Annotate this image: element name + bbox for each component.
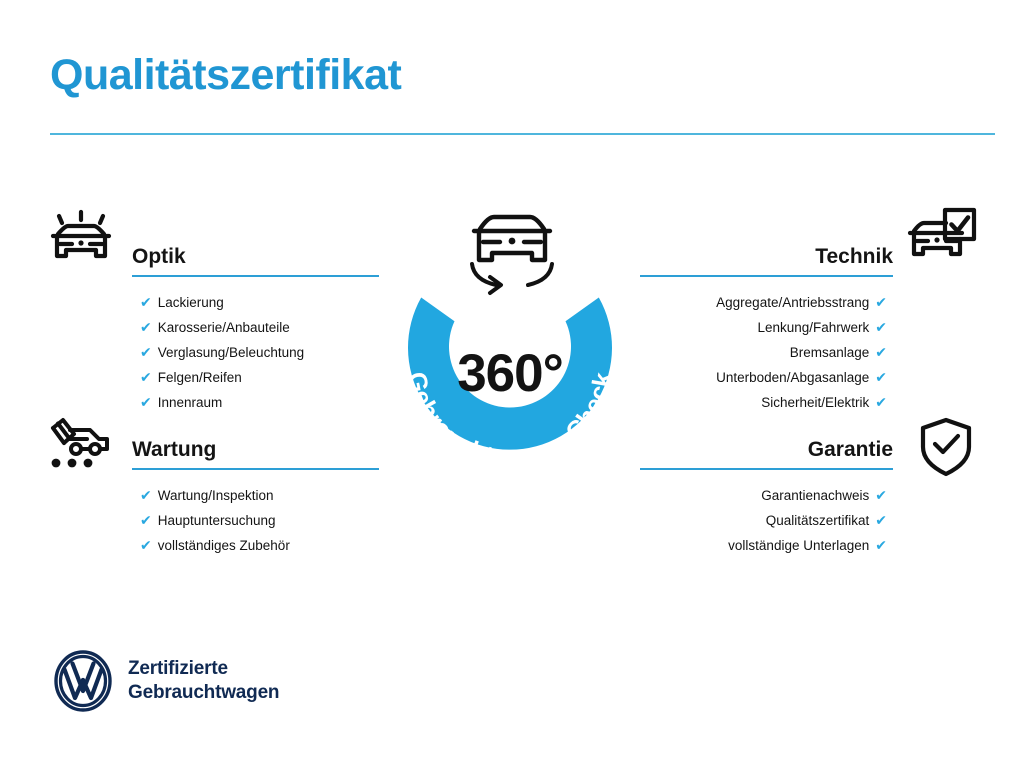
check-icon: ✔ (140, 290, 152, 314)
car-rotation-360-icon (452, 202, 572, 298)
header-divider (50, 133, 995, 135)
check-icon: ✔ (875, 390, 887, 414)
section-title: Wartung (132, 436, 379, 464)
check-icon: ✔ (140, 315, 152, 339)
car-shine-icon (46, 206, 116, 273)
section-divider (132, 275, 379, 277)
list-item: Sicherheit/Elektrik ✔ (640, 390, 893, 415)
section-header: Optik (132, 243, 379, 277)
list-item-label: Hauptuntersuchung (158, 509, 276, 533)
list-item-label: Garantienachweis (761, 484, 869, 508)
list-item: Bremsanlage ✔ (640, 340, 893, 365)
list-item-label: Verglasung/Beleuchtung (158, 341, 304, 365)
check-icon: ✔ (140, 390, 152, 414)
section-divider (640, 275, 893, 277)
vw-wordmark-line2: Gebrauchtwagen (128, 681, 279, 705)
list-item: Lenkung/Fahrwerk ✔ (640, 315, 893, 340)
check-icon: ✔ (875, 315, 887, 339)
section-title: Optik (132, 243, 379, 271)
list-item-label: Karosserie/Anbauteile (158, 316, 290, 340)
check-icon: ✔ (140, 533, 152, 557)
check-icon: ✔ (140, 365, 152, 389)
vw-wordmark-line1: Zertifizierte (128, 657, 279, 681)
section-header: Garantie (640, 436, 893, 470)
badge-value: 360° (381, 343, 639, 404)
check-icon: ✔ (875, 365, 887, 389)
check-icon: ✔ (875, 508, 887, 532)
section-divider (132, 468, 379, 470)
shield-check-icon (918, 416, 974, 483)
list-item: Garantienachweis ✔ (640, 483, 893, 508)
list-item-label: Lenkung/Fahrwerk (757, 316, 869, 340)
list-item-label: vollständiges Zubehör (158, 534, 290, 558)
vw-certified-logo-block: Zertifizierte Gebrauchtwagen (52, 650, 279, 712)
list-item-label: Aggregate/Antriebsstrang (716, 291, 869, 315)
list-item: ✔ Karosserie/Anbauteile (132, 315, 379, 340)
check-icon: ✔ (875, 290, 887, 314)
checklist-garantie: Garantienachweis ✔ Qualitätszertifikat ✔… (640, 483, 893, 558)
section-divider (640, 468, 893, 470)
list-item: ✔ vollständiges Zubehör (132, 533, 379, 558)
check-icon: ✔ (875, 533, 887, 557)
list-item: vollständige Unterlagen ✔ (640, 533, 893, 558)
list-item: ✔ Verglasung/Beleuchtung (132, 340, 379, 365)
checklist-technik: Aggregate/Antriebsstrang ✔ Lenkung/Fahrw… (640, 290, 893, 415)
page-title: Qualitätszertifikat (50, 52, 401, 99)
list-item-label: Felgen/Reifen (158, 366, 242, 390)
volkswagen-logo (52, 650, 114, 712)
section-title: Garantie (640, 436, 893, 464)
list-item: ✔ Lackierung (132, 290, 379, 315)
car-service-pencil-icon (46, 416, 116, 483)
section-header: Technik (640, 243, 893, 277)
checklist-optik: ✔ Lackierung ✔ Karosserie/Anbauteile ✔ V… (132, 290, 379, 415)
check-icon: ✔ (875, 340, 887, 364)
section-header: Wartung (132, 436, 379, 470)
section-title: Technik (640, 243, 893, 271)
checklist-wartung: ✔ Wartung/Inspektion ✔ Hauptuntersuchung… (132, 483, 379, 558)
check-icon: ✔ (875, 483, 887, 507)
check-icon: ✔ (140, 508, 152, 532)
list-item: ✔ Hauptuntersuchung (132, 508, 379, 533)
list-item: ✔ Felgen/Reifen (132, 365, 379, 390)
list-item-label: Qualitätszertifikat (766, 509, 870, 533)
list-item-label: Wartung/Inspektion (158, 484, 274, 508)
section-wartung: Wartung ✔ Wartung/Inspektion ✔ Hauptunte… (132, 436, 379, 558)
check-icon: ✔ (140, 483, 152, 507)
list-item-label: vollständige Unterlagen (728, 534, 869, 558)
vw-wordmark: Zertifizierte Gebrauchtwagen (128, 657, 279, 705)
list-item: ✔ Wartung/Inspektion (132, 483, 379, 508)
list-item-label: Sicherheit/Elektrik (761, 391, 869, 415)
section-garantie: Garantie Garantienachweis ✔ Qualitätszer… (640, 436, 893, 558)
list-item-label: Innenraum (158, 391, 223, 415)
check-icon: ✔ (140, 340, 152, 364)
list-item-label: Lackierung (158, 291, 224, 315)
list-item-label: Unterboden/Abgasanlage (716, 366, 869, 390)
list-item: Qualitätszertifikat ✔ (640, 508, 893, 533)
section-technik: Technik Aggregate/Antriebsstrang ✔ Lenku… (640, 243, 893, 415)
list-item: ✔ Innenraum (132, 390, 379, 415)
section-optik: Optik ✔ Lackierung ✔ Karosserie/Anbautei… (132, 243, 379, 415)
list-item: Aggregate/Antriebsstrang ✔ (640, 290, 893, 315)
certificate-page: Qualitätszertifikat (0, 0, 1024, 768)
car-checkbox-icon (906, 206, 978, 273)
list-item: Unterboden/Abgasanlage ✔ (640, 365, 893, 390)
list-item-label: Bremsanlage (790, 341, 870, 365)
